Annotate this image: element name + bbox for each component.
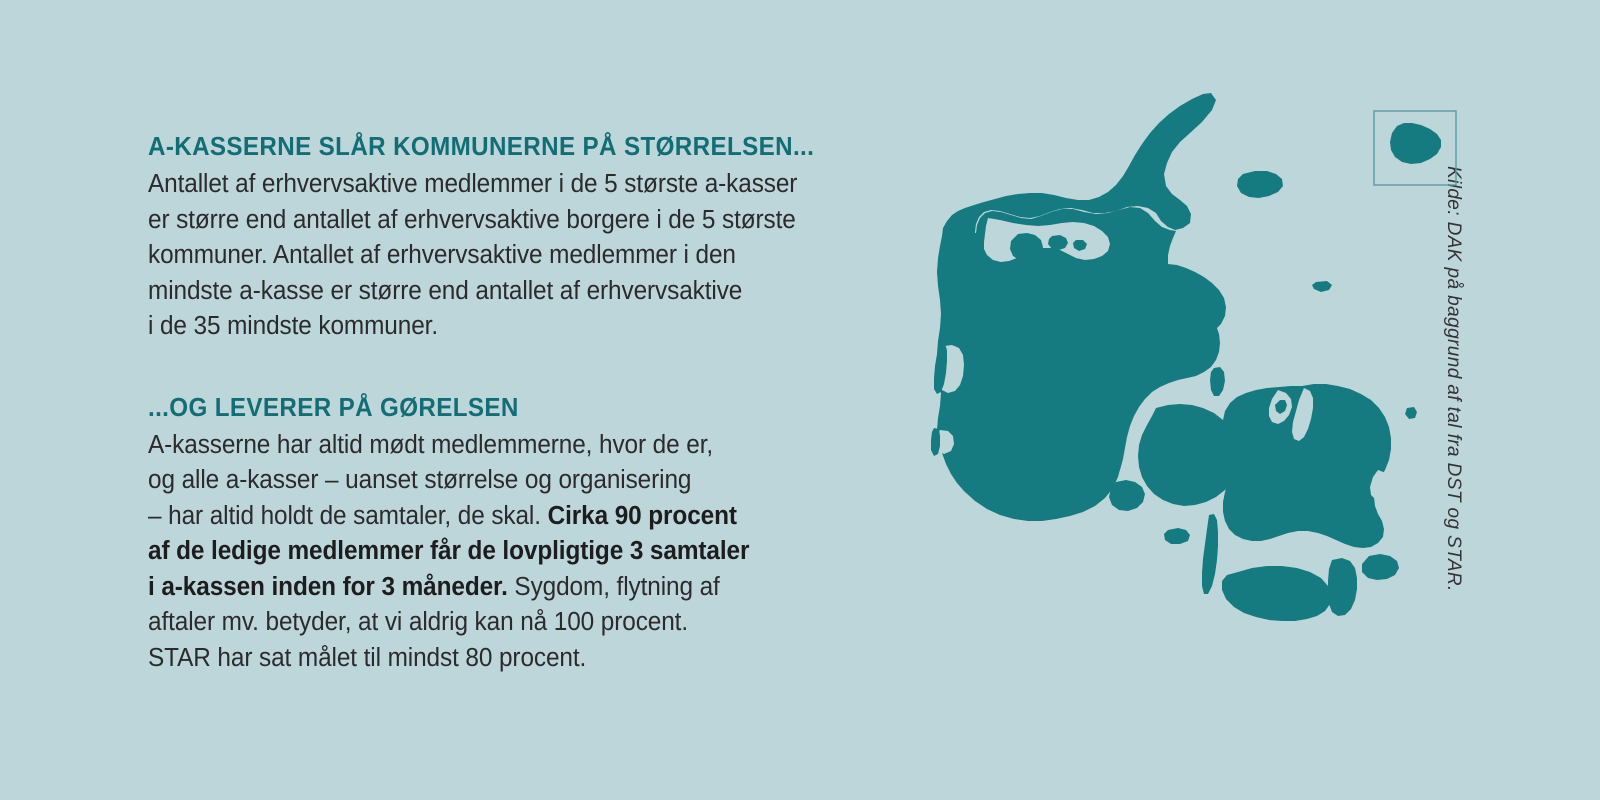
text-block-storrelsen: A-KASSERNE SLÅR KOMMUNERNE PÅ STØRRELSEN… [148, 132, 908, 345]
laeso-island [1237, 171, 1283, 198]
body-line: A-kasserne har altid mødt medlemmerne, h… [148, 431, 713, 459]
body-line-bold: af de ledige medlemmer får de lovpligtig… [148, 537, 749, 565]
infographic-page: A-KASSERNE SLÅR KOMMUNERNE PÅ STØRRELSEN… [0, 0, 1600, 800]
bornholm-island [1390, 123, 1441, 164]
text-column: A-KASSERNE SLÅR KOMMUNERNE PÅ STØRRELSEN… [148, 132, 908, 676]
anholt-island [1312, 281, 1332, 292]
nissum-spit [931, 428, 940, 456]
body-line: er større end antallet af erhvervsaktive… [148, 206, 796, 234]
body-line: i de 35 mindste kommuner. [148, 312, 438, 340]
body-line-bold: Cirka 90 procent [548, 502, 737, 530]
als-island [1109, 480, 1145, 511]
body-line: – har altid holdt de samtaler, de skal. [148, 502, 548, 530]
jutland-south [940, 405, 1122, 521]
denmark-map-svg [880, 78, 1480, 718]
body-line-bold: i a-kassen inden for 3 måneder. [148, 573, 508, 601]
block-1-heading: A-KASSERNE SLÅR KOMMUNERNE PÅ STØRRELSEN… [148, 132, 855, 161]
body-line: aftaler mv. betyder, at vi aldrig kan nå… [148, 608, 688, 636]
text-block-gorelsen: ...OG LEVERER PÅ GØRELSEN A-kasserne har… [148, 393, 908, 677]
lolland-island [1222, 566, 1331, 621]
mon-island [1362, 554, 1399, 580]
body-line: STAR har sat målet til mindst 80 procent… [148, 644, 586, 672]
denmark-map [880, 78, 1480, 718]
falster-island [1328, 558, 1357, 616]
body-line: Antallet af erhvervsaktive medlemmer i d… [148, 170, 797, 198]
hesselo-islet [1405, 407, 1417, 419]
djursland [1165, 264, 1226, 336]
body-line: og alle a-kasser – uanset størrelse og o… [148, 466, 691, 494]
langeland-island [1202, 514, 1218, 594]
body-line: mindste a-kasse er større end antallet a… [148, 277, 742, 305]
block-2-body: A-kasserne har altid mødt medlemmerne, h… [148, 428, 874, 677]
aero-island [1164, 528, 1190, 544]
body-line: kommuner. Antallet af erhvervsaktive med… [148, 241, 736, 269]
body-line: Sygdom, flytning af [508, 573, 720, 601]
block-2-heading: ...OG LEVERER PÅ GØRELSEN [148, 393, 855, 422]
samso-island [1210, 367, 1225, 396]
block-1-body: Antallet af erhvervsaktive medlemmer i d… [148, 167, 874, 345]
